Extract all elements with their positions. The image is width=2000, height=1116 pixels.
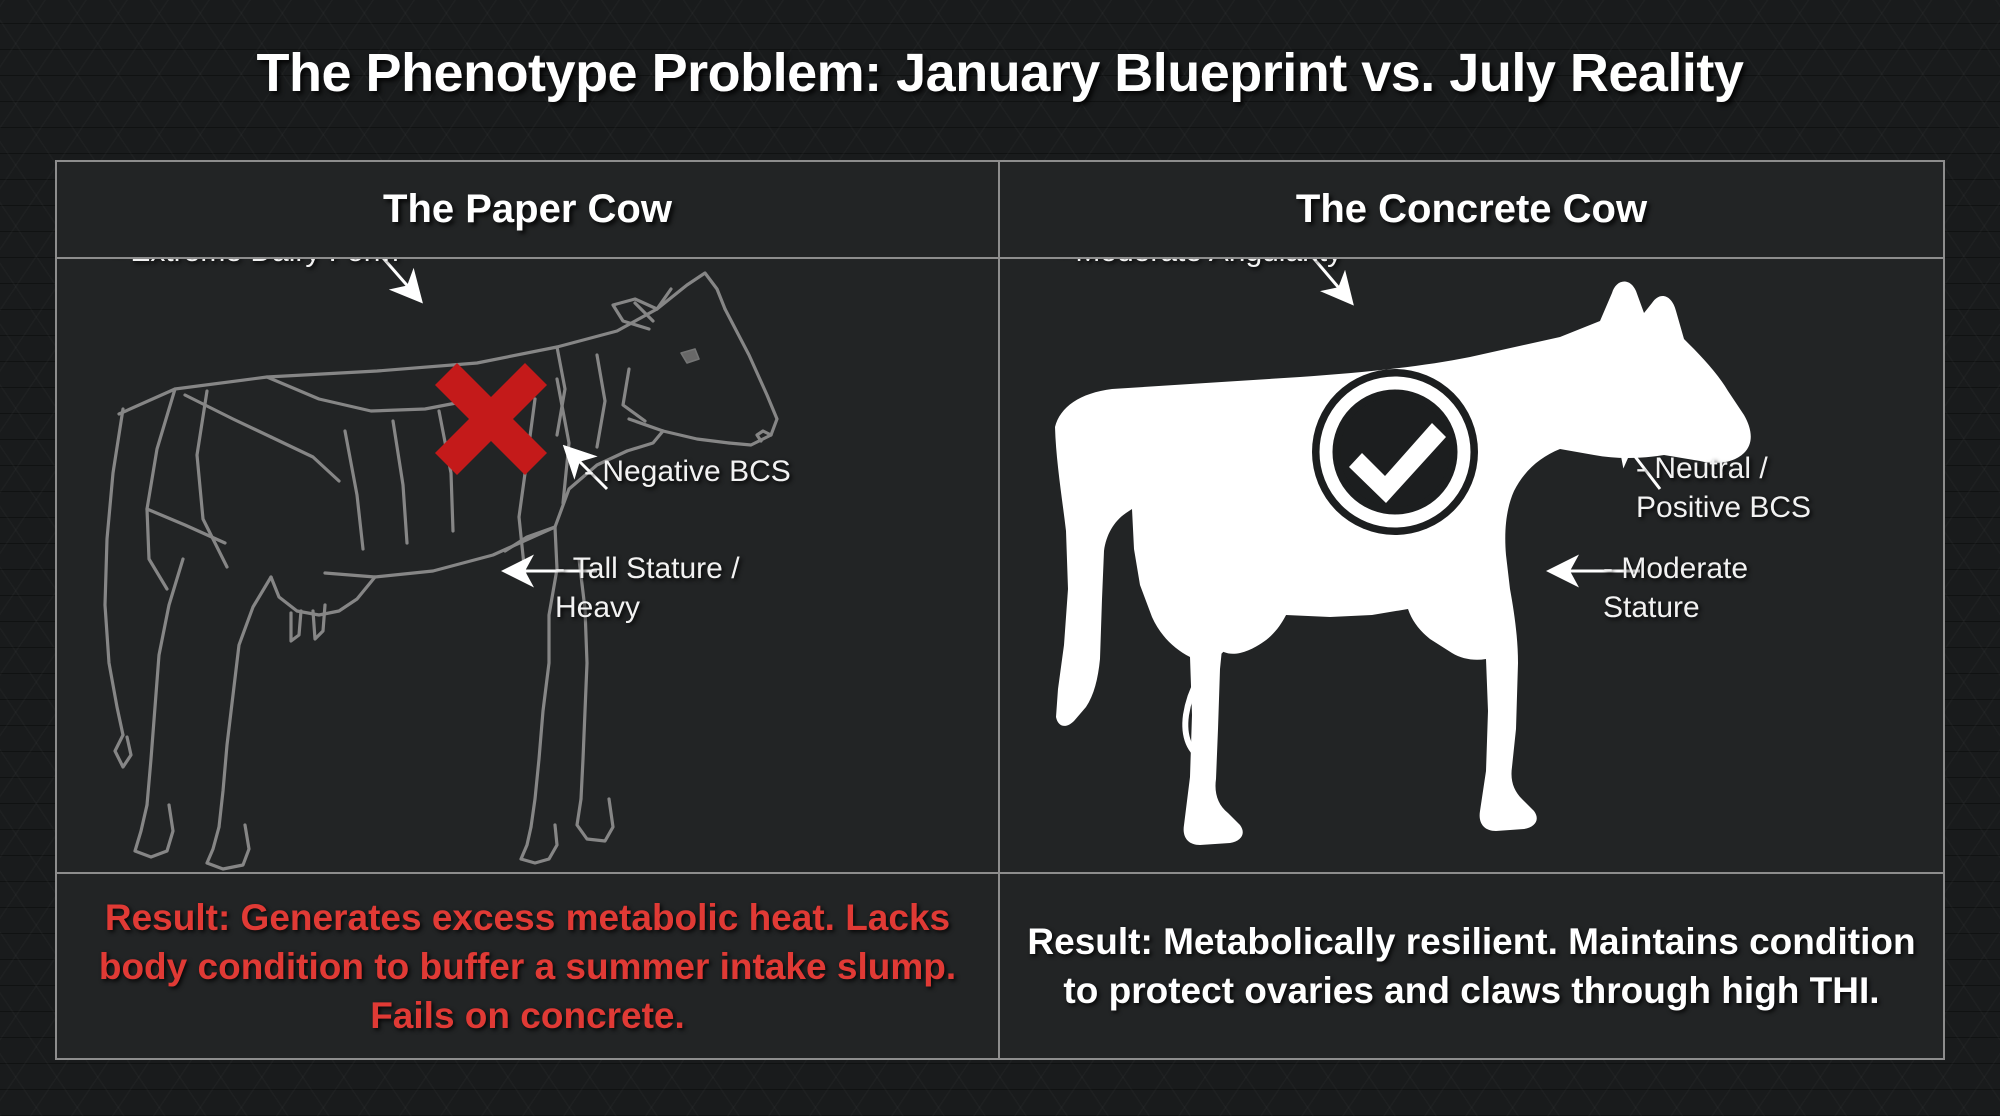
panel-header-paper-cow: The Paper Cow <box>57 162 998 257</box>
annotation-moderate-angularity: - Moderate Angularity <box>1057 259 1342 271</box>
panel-body-paper-cow: - Extreme Dairy Form - Negative BCS - Ta… <box>57 259 998 872</box>
annotation-negative-bcs: - Negative BCS <box>584 452 791 491</box>
result-paper-cow: Result: Generates excess metabolic heat.… <box>57 874 998 1058</box>
infographic-canvas: The Phenotype Problem: January Blueprint… <box>0 0 2000 1116</box>
annotation-neutral-positive-bcs: - Neutral / Positive BCS <box>1636 449 1811 527</box>
panel-body-concrete-cow: - Moderate Angularity - Neutral / Positi… <box>1000 259 1943 872</box>
page-title: The Phenotype Problem: January Blueprint… <box>0 42 2000 104</box>
annotation-moderate-stature: - Moderate Stature <box>1603 549 1748 627</box>
annotation-tall-stature-heavy: - Tall Stature / Heavy <box>555 549 740 627</box>
annotation-extreme-dairy-form: - Extreme Dairy Form <box>112 259 399 271</box>
panel-header-concrete-cow: The Concrete Cow <box>1000 162 1943 257</box>
paper-cow-annotation-arrows <box>57 259 998 872</box>
concrete-cow-annotation-arrows <box>1000 259 1943 872</box>
result-concrete-cow: Result: Metabolically resilient. Maintai… <box>1000 874 1943 1058</box>
